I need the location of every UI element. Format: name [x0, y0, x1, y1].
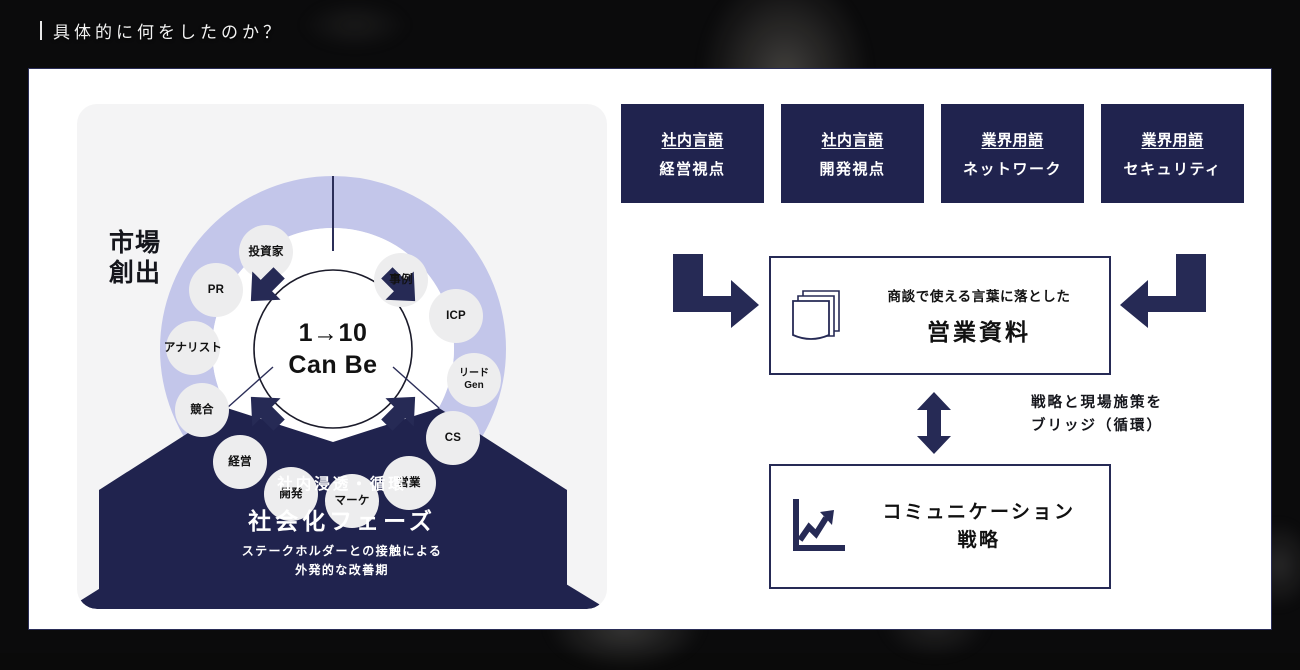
growth-chart-icon	[771, 496, 863, 558]
page-title-text: 具体的に何をしたのか？	[53, 18, 284, 43]
elbow-arrow-right-icon	[669, 252, 761, 335]
card-2-bottom: 開発視点	[819, 158, 885, 179]
terminology-card-4[interactable]: 業界用語 セキュリティ	[1101, 104, 1244, 203]
ring-node-label: 事例	[389, 274, 412, 286]
bridge-note-line1: 戦略と現場施策を	[1031, 392, 1163, 415]
socialization-note: ステークホルダーとの接触による 外発的な改善期	[77, 542, 607, 579]
ring-node-label: CS	[445, 432, 461, 444]
card-3-top: 業界用語	[981, 129, 1043, 150]
center-line-2: Can Be	[288, 349, 377, 381]
ring-node-label: PR	[208, 284, 224, 296]
communication-strategy-line2: 戦略	[863, 527, 1095, 555]
card-1-top: 社内言語	[661, 129, 723, 150]
ring-node-label: アナリスト	[164, 342, 222, 354]
card-3-bottom: ネットワーク	[963, 158, 1062, 179]
card-4-top: 業界用語	[1141, 129, 1203, 150]
circle-diagram: 事例 ICP リード Gen CS 営業 マーケ 開発 経営 競合 アナリスト …	[77, 104, 607, 609]
ring-node-label: 投資家	[248, 246, 283, 258]
communication-strategy-text: コミュニケーション 戦略	[863, 499, 1109, 554]
bidirectional-arrow-icon	[911, 391, 957, 460]
ring-node-label: リード Gen	[459, 368, 489, 392]
terminology-cards: 社内言語 経営視点 社内言語 開発視点 業界用語 ネットワーク 業界用語 セキュ…	[621, 104, 1244, 203]
elbow-arrow-left-icon	[1118, 252, 1210, 335]
communication-strategy-line1: コミュニケーション	[863, 499, 1095, 527]
bridge-note: 戦略と現場施策を ブリッジ（循環）	[1031, 392, 1163, 438]
slide-header: 具体的に何をしたのか？	[0, 0, 1300, 68]
sales-material-box[interactable]: 商談で使える言葉に落とした 営業資料	[769, 256, 1111, 375]
circle-diagram-card: 事例 ICP リード Gen CS 営業 マーケ 開発 経営 競合 アナリスト …	[77, 104, 607, 609]
ring-node-label: ICP	[446, 310, 466, 322]
ring-node-label-line2: Gen	[459, 380, 489, 392]
market-creation-label: 市場 創出	[109, 229, 161, 288]
sales-material-text: 商談で使える言葉に落とした 営業資料	[863, 285, 1109, 347]
ring-node-label: 経営	[228, 456, 251, 468]
sales-material-subtitle: 商談で使える言葉に落とした	[863, 285, 1095, 305]
terminology-card-3[interactable]: 業界用語 ネットワーク	[941, 104, 1084, 203]
socialization-note-line2: 外発的な改善期	[77, 561, 607, 580]
center-line-1: 1→10	[288, 317, 377, 349]
ring-node-label: 競合	[190, 404, 213, 416]
market-creation-line1: 市場	[109, 229, 161, 259]
slide-stage: 具体的に何をしたのか？	[0, 0, 1300, 653]
card-2-top: 社内言語	[821, 129, 883, 150]
socialization-title: 社会化フェーズ	[77, 502, 607, 536]
card-4-bottom: セキュリティ	[1123, 158, 1221, 179]
page-title: 具体的に何をしたのか？	[40, 18, 284, 43]
title-accent-bar	[40, 21, 42, 40]
market-creation-line2: 創出	[109, 259, 161, 289]
sales-material-title: 営業資料	[863, 313, 1095, 347]
card-1-bottom: 経営視点	[659, 158, 725, 179]
bridge-note-line2: ブリッジ（循環）	[1031, 415, 1163, 438]
slide-panel: 事例 ICP リード Gen CS 営業 マーケ 開発 経営 競合 アナリスト …	[28, 68, 1272, 630]
communication-strategy-box[interactable]: コミュニケーション 戦略	[769, 464, 1111, 589]
socialization-note-line1: ステークホルダーとの接触による	[77, 542, 607, 561]
ring-node-label-line1: リード	[459, 368, 489, 380]
documents-stack-icon	[771, 285, 863, 347]
terminology-card-2[interactable]: 社内言語 開発視点	[781, 104, 924, 203]
socialization-subtitle: 社内浸透・循環	[77, 472, 607, 494]
circle-center-text: 1→10 Can Be	[288, 317, 377, 381]
right-column: 社内言語 経営視点 社内言語 開発視点 業界用語 ネットワーク 業界用語 セキュ…	[621, 104, 1251, 609]
terminology-card-1[interactable]: 社内言語 経営視点	[621, 104, 764, 203]
